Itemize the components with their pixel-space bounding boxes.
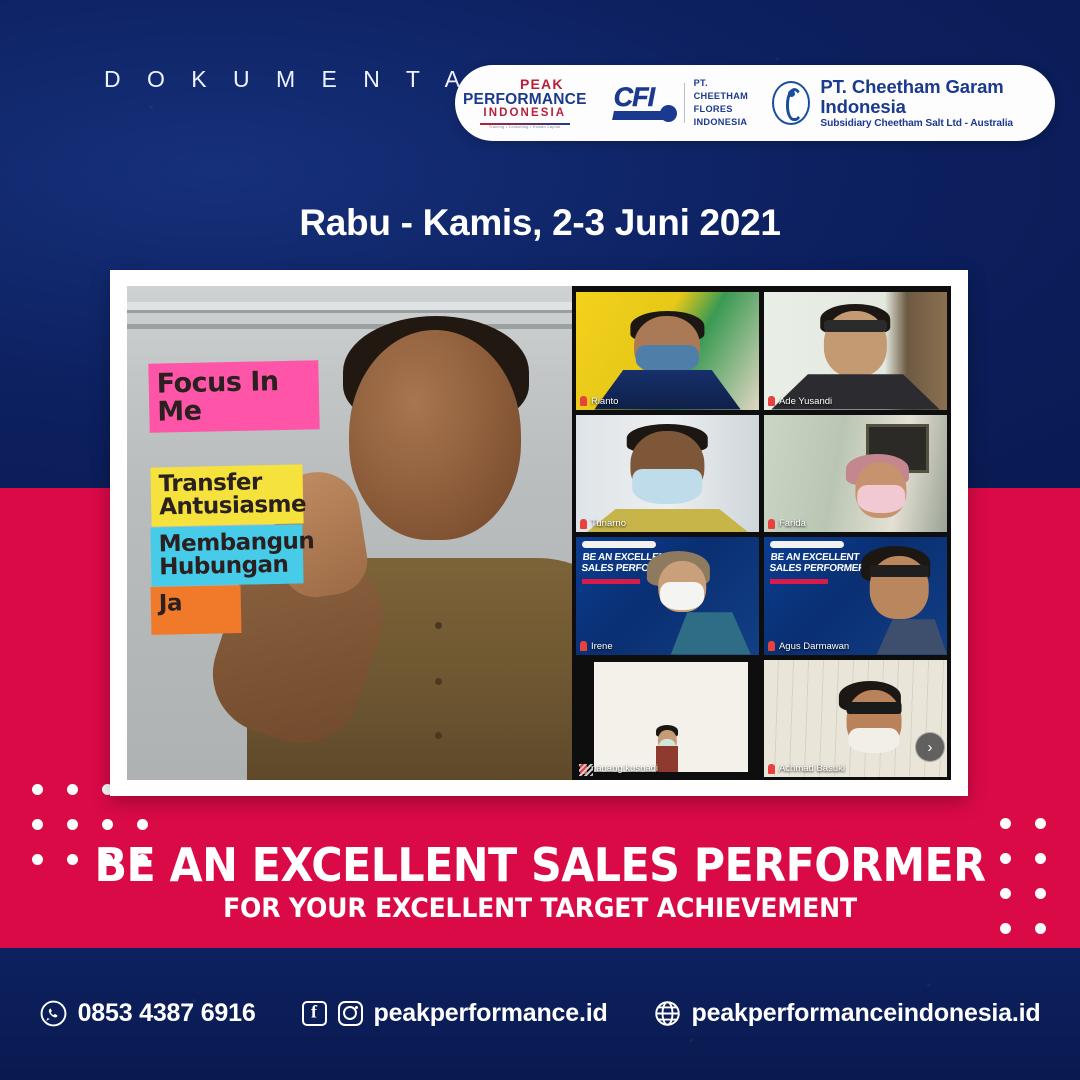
- cfi-word-2: CHEETHAM: [694, 90, 748, 103]
- photo-frame: Focus In Me Transfer Antusiasme Membangu…: [110, 270, 968, 796]
- cheetham-subtitle: Subsidiary Cheetham Salt Ltd - Australia: [820, 118, 1055, 129]
- meeting-screenshot: Focus In Me Transfer Antusiasme Membangu…: [127, 286, 951, 780]
- participant-name: Achmad Basuki: [768, 763, 845, 774]
- event-date: Rabu - Kamis, 2-3 Juni 2021: [0, 202, 1080, 244]
- cfi-globe-icon: [660, 105, 677, 122]
- cfi-word-1: PT.: [694, 77, 748, 90]
- whatsapp-icon: [40, 1000, 67, 1027]
- participant-name: Agus Darmawan: [768, 641, 849, 652]
- participant-name: Rianto: [580, 396, 618, 407]
- cfi-word-4: INDONESIA: [694, 116, 748, 129]
- participant-grid: Rianto Ade Yusandi: [572, 286, 951, 780]
- cfi-mark-icon: CFI: [613, 81, 675, 125]
- cfi-logo: CFI PT. CHEETHAM FLORES INDONESIA: [613, 77, 748, 129]
- peak-logo-line3: INDONESIA: [463, 108, 587, 120]
- participant-name: Farida: [768, 518, 806, 529]
- participant-tile[interactable]: Achmad Basuki: [764, 660, 947, 778]
- sticky-note-4: Ja: [151, 585, 242, 635]
- peak-logo-line1: PEAK: [497, 77, 587, 91]
- headline-text: BE AN EXCELLENT SALES PERFORMER: [38, 838, 1042, 892]
- participant-tile[interactable]: Tunarno: [576, 415, 759, 533]
- participant-name: Ade Yusandi: [768, 396, 832, 407]
- speaker-video-panel: Focus In Me Transfer Antusiasme Membangu…: [127, 286, 572, 780]
- participant-name: Tunarno: [580, 518, 626, 529]
- sticky-note-2: Transfer Antusiasme: [150, 464, 303, 526]
- grid-row-2: Tunarno Farida: [576, 415, 947, 533]
- logo-pill: PEAK PERFORMANCE INDONESIA Training • Co…: [455, 65, 1055, 141]
- cfi-wordmark: PT. CHEETHAM FLORES INDONESIA: [694, 77, 748, 129]
- poster-canvas: D O K U M E N T A S I PEAK PERFORMANCE I…: [0, 0, 1080, 1080]
- participant-tile[interactable]: Rianto: [576, 292, 759, 410]
- grid-row-4: nanang kusnadi Achmad Basuki: [576, 660, 947, 778]
- participant-tile[interactable]: nanang kusnadi: [576, 660, 759, 778]
- website-url: peakperformanceindonesia.id: [692, 999, 1041, 1028]
- globe-icon: [654, 1000, 681, 1027]
- cheetham-title: PT. Cheetham Garam Indonesia: [820, 77, 1055, 117]
- facebook-icon: [302, 1001, 327, 1026]
- peak-performance-logo: PEAK PERFORMANCE INDONESIA Training • Co…: [463, 77, 587, 129]
- peak-logo-tagline: Training • Consulting • Human Capital: [463, 126, 587, 129]
- participant-tile[interactable]: BE AN EXCELLENT SALES PERFORMER Irene: [576, 537, 759, 655]
- speaker-head: [349, 330, 521, 540]
- cfi-divider: [684, 83, 685, 123]
- participant-name: Irene: [580, 641, 613, 652]
- instagram-icon: [338, 1001, 363, 1026]
- sticky-note-1: Focus In Me: [148, 360, 319, 433]
- resize-handle-icon[interactable]: [579, 764, 593, 776]
- cheetham-logo: PT. Cheetham Garam Indonesia Subsidiary …: [772, 77, 1055, 130]
- grid-row-1: Rianto Ade Yusandi: [576, 292, 947, 410]
- participant-tile[interactable]: Farida: [764, 415, 947, 533]
- participant-tile[interactable]: Ade Yusandi: [764, 292, 947, 410]
- cfi-mark-text: CFI: [614, 84, 655, 111]
- peak-logo-line2: PERFORMANCE: [463, 92, 587, 108]
- phone-contact[interactable]: 0853 4387 6916: [40, 999, 256, 1028]
- cfi-word-3: FLORES: [694, 103, 748, 116]
- website-contact[interactable]: peakperformanceindonesia.id: [654, 999, 1041, 1028]
- subheadline-text: FOR YOUR EXCELLENT TARGET ACHIEVEMENT: [38, 893, 1042, 924]
- sticky-note-3: Membangun Hubungan: [150, 524, 303, 586]
- next-page-button[interactable]: ›: [915, 732, 945, 762]
- cheetham-seahorse-icon: [772, 81, 810, 125]
- participant-tile[interactable]: BE AN EXCELLENT SALES PERFORMER Agus Dar…: [764, 537, 947, 655]
- social-contact[interactable]: peakperformance.id: [302, 999, 608, 1028]
- phone-number: 0853 4387 6916: [78, 999, 256, 1028]
- shared-slide-text: BE AN EXCELLENT SALES PERFORMER: [769, 553, 867, 574]
- social-handle: peakperformance.id: [374, 999, 608, 1028]
- footer-bar: 0853 4387 6916 peakperformance.id peakpe…: [0, 988, 1080, 1038]
- grid-row-3: BE AN EXCELLENT SALES PERFORMER Irene: [576, 537, 947, 655]
